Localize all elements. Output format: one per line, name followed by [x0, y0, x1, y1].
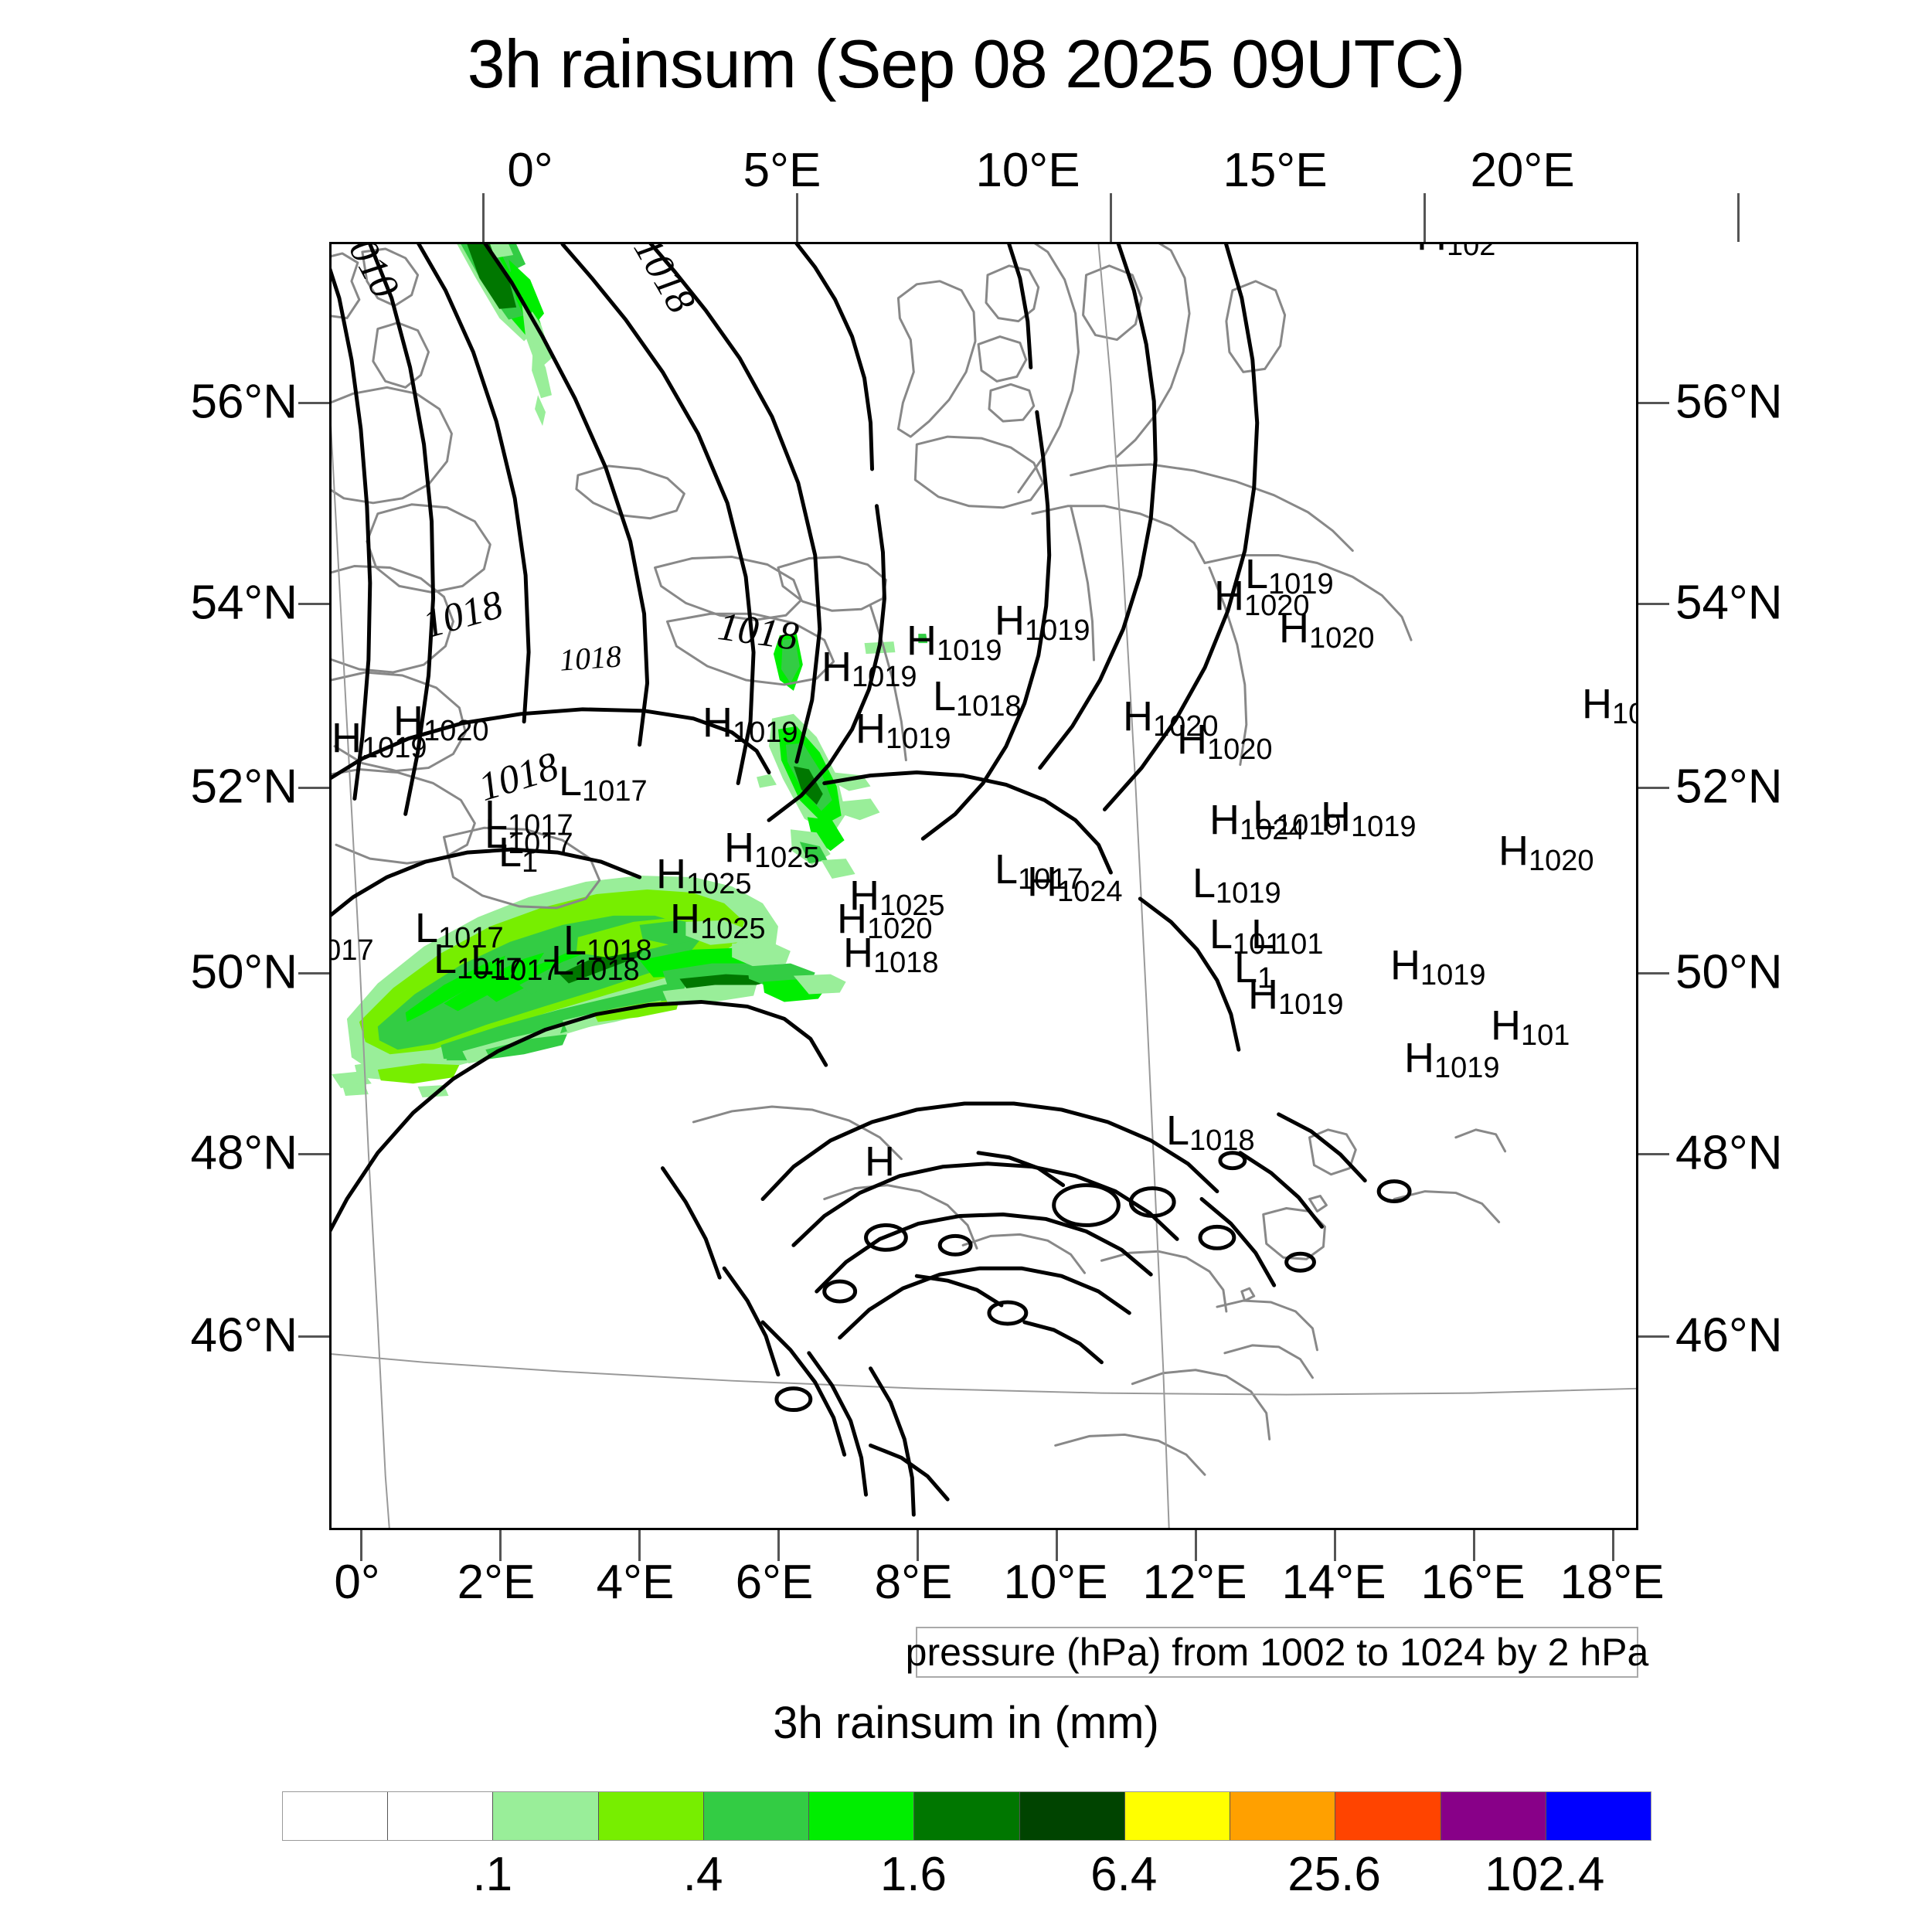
axis-label-bottom-6e: 6°E: [736, 1555, 814, 1610]
tick-top-20: [1737, 193, 1740, 242]
extremum-h-marker: H1019: [1390, 944, 1486, 990]
pressure-legend-box: pressure (hPa) from 1002 to 1024 by 2 hP…: [916, 1627, 1638, 1678]
axis-label-top-20e: 20°E: [1470, 143, 1574, 198]
axis-label-left-50n: 50°N: [190, 945, 298, 1000]
extremum-l-marker: L1018: [551, 940, 640, 985]
extremum-h-marker: H102: [1417, 242, 1495, 260]
axis-label-bottom-14e: 14°E: [1281, 1555, 1386, 1610]
extremum-l-marker: L1017: [329, 920, 374, 965]
map-plot-area[interactable]: 1010 1018 1018 1018 1018 1018 H102 L1019…: [329, 242, 1638, 1530]
axis-label-top-15e: 15°E: [1223, 143, 1327, 198]
extremum-h-marker: H1019: [906, 620, 1002, 665]
extremum-l-marker: L1: [1234, 947, 1274, 993]
axis-label-bottom-2e: 2°E: [457, 1555, 536, 1610]
axis-label-bottom-10e: 10°E: [1003, 1555, 1107, 1610]
extremum-h-marker: H1019: [1404, 1037, 1500, 1083]
tick-right-52: [1638, 787, 1669, 789]
tick-left-56: [298, 402, 329, 404]
tick-right-54: [1638, 603, 1669, 605]
tick-top-0: [482, 193, 485, 242]
colorbar-cell-4[interactable]: [704, 1792, 809, 1840]
tick-right-56: [1638, 402, 1669, 404]
extremum-h-marker: H1020: [1177, 719, 1273, 764]
extremum-h-marker: H1025: [656, 853, 752, 899]
weather-map-svg: [332, 244, 1636, 1528]
colorbar-cell-10[interactable]: [1335, 1792, 1440, 1840]
tick-right-48: [1638, 1153, 1669, 1155]
axis-label-left-54n: 54°N: [190, 576, 298, 631]
axis-label-bottom-18e: 18°E: [1560, 1555, 1664, 1610]
tick-left-48: [298, 1153, 329, 1155]
axis-label-right-50n: 50°N: [1675, 945, 1783, 1000]
extremum-l-marker: L1017: [434, 938, 522, 984]
colorbar-label-2: 1.6: [880, 1847, 947, 1902]
axis-label-left-46n: 46°N: [190, 1308, 298, 1363]
pressure-legend-text: pressure (hPa) from 1002 to 1024 by 2 hP…: [906, 1630, 1649, 1675]
colorbar-cell-3[interactable]: [599, 1792, 704, 1840]
graticule: [332, 244, 1636, 1528]
axis-label-right-48n: 48°N: [1675, 1126, 1783, 1181]
colorbar-tick-labels: .1.41.66.425.6102.4: [282, 1847, 1650, 1917]
extremum-h-marker: H1019: [702, 702, 798, 747]
axis-label-top-0: 0°: [507, 143, 553, 198]
colorbar-label-3: 6.4: [1090, 1847, 1157, 1902]
axis-label-left-56n: 56°N: [190, 375, 298, 430]
axis-label-bottom-0: 0°: [334, 1555, 379, 1610]
colorbar-cell-7[interactable]: [1020, 1792, 1125, 1840]
extremum-h-marker: H1024: [1027, 861, 1123, 906]
colorbar-label-1: .4: [683, 1847, 723, 1902]
extremum-h-marker: H1019: [821, 646, 917, 692]
axis-label-bottom-16e: 16°E: [1420, 1555, 1525, 1610]
axis-label-top-10e: 10°E: [975, 143, 1080, 198]
colorbar-cell-9[interactable]: [1230, 1792, 1335, 1840]
axis-label-right-56n: 56°N: [1675, 375, 1783, 430]
extremum-l-marker: L1019: [1192, 862, 1281, 908]
colorbar-cell-5[interactable]: [809, 1792, 914, 1840]
axis-label-right-46n: 46°N: [1675, 1308, 1783, 1363]
colorbar-cell-2[interactable]: [493, 1792, 598, 1840]
axis-label-right-54n: 54°N: [1675, 576, 1783, 631]
extremum-h-marker: H: [865, 1141, 895, 1186]
colorbar-label-0: .1: [472, 1847, 512, 1902]
tick-left-54: [298, 603, 329, 605]
colorbar-label-5: 102.4: [1485, 1847, 1604, 1902]
colorbar[interactable]: [282, 1791, 1651, 1841]
tick-right-50: [1638, 972, 1669, 975]
tick-right-46: [1638, 1335, 1669, 1338]
colorbar-title: 3h rainsum in (mm): [0, 1697, 1932, 1749]
extremum-h-marker: H1025: [670, 898, 766, 944]
tick-left-52: [298, 787, 329, 789]
tick-top-15: [1423, 193, 1426, 242]
axis-label-left-52n: 52°N: [190, 760, 298, 815]
extremum-h-marker: H1020: [1498, 830, 1594, 876]
contour-label-1018-small: 1018: [558, 638, 622, 678]
axis-label-right-52n: 52°N: [1675, 760, 1783, 815]
colorbar-cell-6[interactable]: [914, 1792, 1019, 1840]
axis-label-top-5e: 5°E: [743, 143, 821, 198]
extremum-h-marker: H1018: [843, 932, 939, 978]
extremum-l-marker: L1018: [1166, 1110, 1255, 1155]
colorbar-cell-12[interactable]: [1546, 1792, 1651, 1840]
extremum-h-marker: H1020: [393, 700, 489, 746]
extremum-h-marker: H1020: [1279, 607, 1375, 653]
tick-left-50: [298, 972, 329, 975]
colorbar-label-4: 25.6: [1287, 1847, 1381, 1902]
page-title: 3h rainsum (Sep 08 2025 09UTC): [0, 25, 1932, 104]
tick-left-46: [298, 1335, 329, 1338]
colorbar-cell-0[interactable]: [283, 1792, 388, 1840]
tick-top-10: [1110, 193, 1112, 242]
axis-label-bottom-12e: 12°E: [1142, 1555, 1247, 1610]
colorbar-cell-8[interactable]: [1125, 1792, 1230, 1840]
extremum-h-marker: H10: [1582, 683, 1638, 729]
axis-label-left-48n: 48°N: [190, 1126, 298, 1181]
extremum-h-marker: H1019: [855, 708, 951, 753]
colorbar-cell-11[interactable]: [1441, 1792, 1546, 1840]
colorbar-cell-1[interactable]: [388, 1792, 493, 1840]
axis-label-bottom-4e: 4°E: [597, 1555, 675, 1610]
extremum-l-marker: L1017: [485, 813, 573, 859]
axis-label-bottom-8e: 8°E: [875, 1555, 953, 1610]
extremum-h-marker: H101: [1491, 1005, 1570, 1050]
tick-top-5: [796, 193, 798, 242]
extremum-h-marker: H1019: [995, 600, 1090, 645]
extremum-h-marker: L1019: [1253, 794, 1342, 840]
